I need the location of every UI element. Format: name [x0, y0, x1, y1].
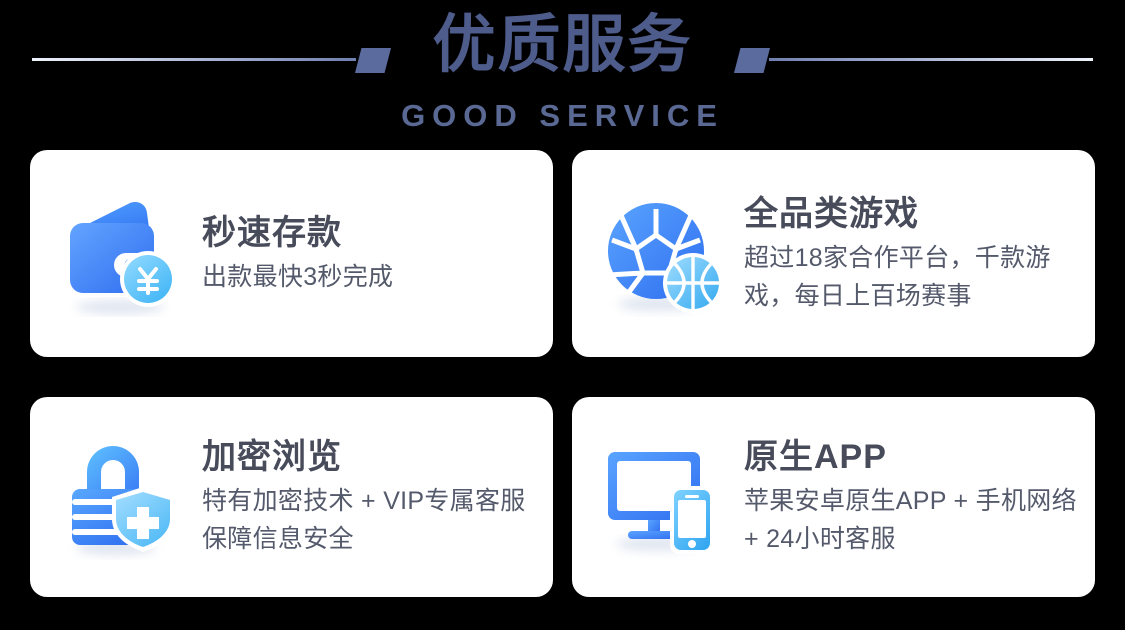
feature-card-text: 全品类游戏 超过18家合作平台，千款游戏，每日上百场赛事 [744, 193, 1095, 315]
feature-card-encryption[interactable]: 加密浏览 特有加密技术 + VIP专属客服保障信息安全 [30, 397, 553, 597]
feature-card-desc: 出款最快3秒完成 [202, 258, 535, 296]
feature-card-title: 秒速存款 [202, 212, 535, 254]
feature-card-desc: 超过18家合作平台，千款游戏，每日上百场赛事 [744, 239, 1089, 315]
feature-card-native-app[interactable]: 原生APP 苹果安卓原生APP + 手机网络 + 24小时客服 [572, 397, 1095, 597]
feature-card-text: 加密浏览 特有加密技术 + VIP专属客服保障信息安全 [202, 436, 553, 558]
page-title: 优质服务 [0, 6, 1125, 84]
feature-card-deposit[interactable]: 秒速存款 出款最快3秒完成 [30, 150, 553, 357]
wallet-yen-icon [58, 191, 184, 317]
feature-card-title: 加密浏览 [202, 436, 535, 478]
feature-card-title: 全品类游戏 [744, 193, 1089, 235]
lock-shield-icon [58, 434, 184, 560]
feature-card-desc: 特有加密技术 + VIP专属客服保障信息安全 [202, 482, 535, 558]
page-header: 优质服务 GOOD SERVICE [0, 0, 1125, 148]
soccer-basketball-icon [600, 191, 726, 317]
feature-card-text: 原生APP 苹果安卓原生APP + 手机网络 + 24小时客服 [744, 436, 1095, 558]
feature-card-games[interactable]: 全品类游戏 超过18家合作平台，千款游戏，每日上百场赛事 [572, 150, 1095, 357]
feature-card-desc: 苹果安卓原生APP + 手机网络 + 24小时客服 [744, 482, 1089, 558]
page-subtitle: GOOD SERVICE [0, 97, 1125, 135]
feature-card-title: 原生APP [744, 436, 1089, 478]
feature-card-grid: 秒速存款 出款最快3秒完成 [30, 150, 1095, 597]
monitor-phone-icon [600, 434, 726, 560]
feature-card-text: 秒速存款 出款最快3秒完成 [202, 212, 553, 296]
